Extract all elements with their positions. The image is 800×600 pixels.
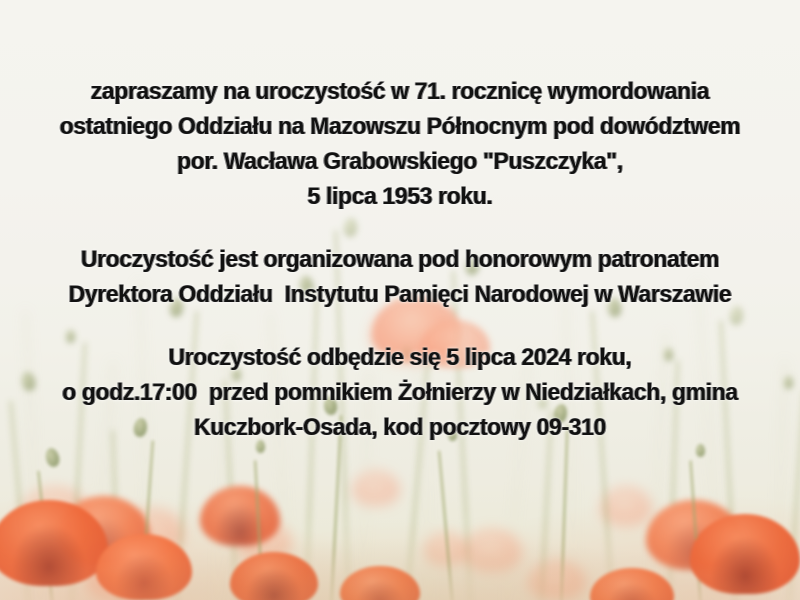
poster-text: zapraszamy na uroczystość w 71. rocznicę… — [0, 74, 800, 445]
text-line: Uroczystość jest organizowana pod honoro… — [41, 242, 759, 277]
text-line: Uroczystość odbędzie się 5 lipca 2024 ro… — [41, 340, 759, 375]
text-line: Kuczbork-Osada, kod pocztowy 09-310 — [41, 410, 759, 445]
text-line: zapraszamy na uroczystość w 71. rocznicę… — [41, 74, 759, 109]
text-line: 5 lipca 1953 roku. — [41, 179, 759, 214]
paragraph-patronage: Uroczystość jest organizowana pod honoro… — [14, 242, 786, 312]
text-line: o godz.17:00 przed pomnikiem Żołnierzy w… — [41, 375, 759, 410]
paragraph-details: Uroczystość odbędzie się 5 lipca 2024 ro… — [14, 340, 786, 445]
text-line: ostatniego Oddziału na Mazowszu Północny… — [41, 109, 759, 144]
poster-image: zapraszamy na uroczystość w 71. rocznicę… — [0, 0, 800, 600]
paragraph-invitation: zapraszamy na uroczystość w 71. rocznicę… — [14, 74, 786, 214]
text-line: Dyrektora Oddziału Instytutu Pamięci Nar… — [41, 277, 759, 312]
text-line: por. Wacława Grabowskiego "Puszczyka", — [41, 144, 759, 179]
